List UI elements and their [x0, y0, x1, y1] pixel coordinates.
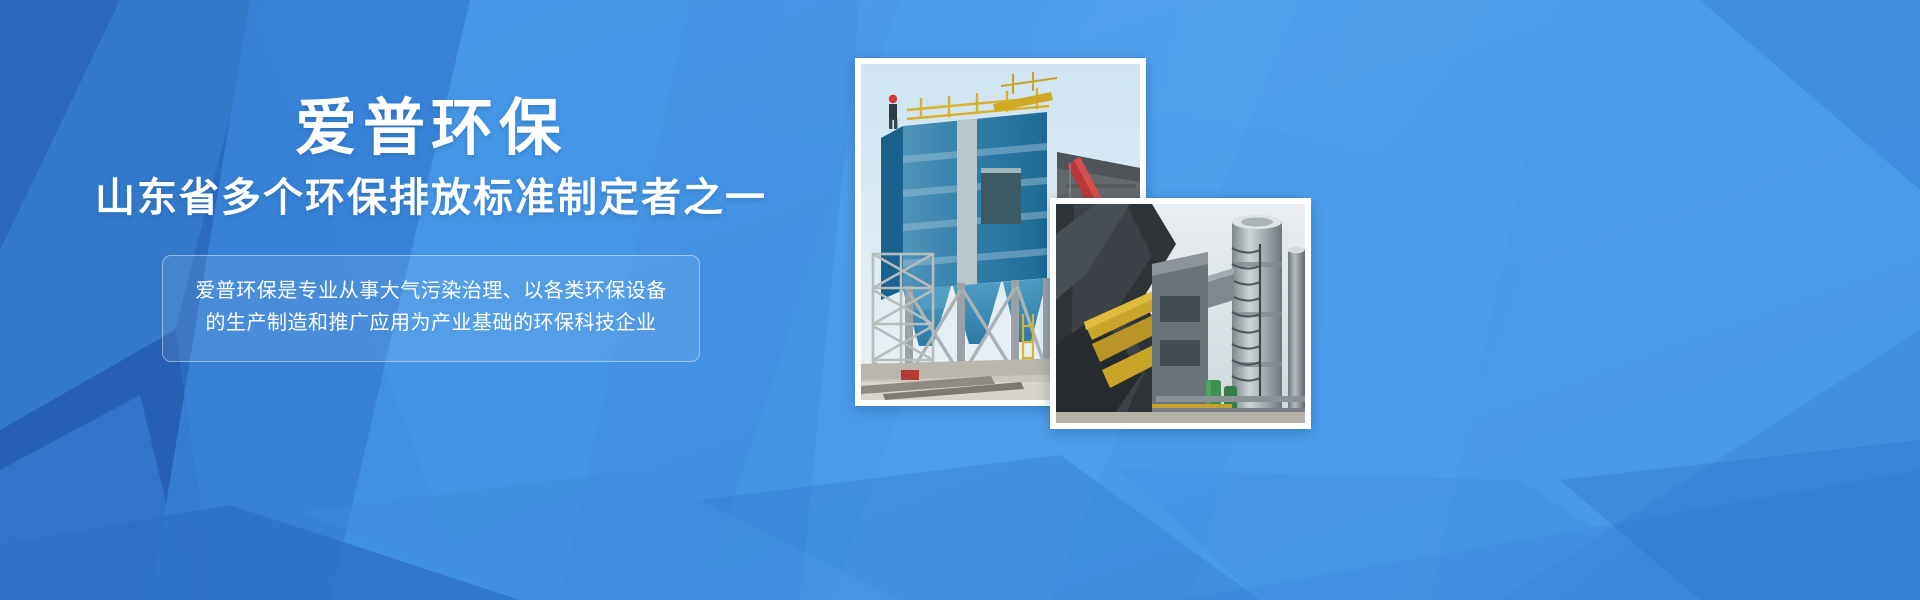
- description-line-2: 的生产制造和推广应用为产业基础的环保科技企业: [181, 307, 681, 339]
- photo-canvas: [1056, 204, 1305, 423]
- hero-text-block: 爱普环保 山东省多个环保排放标准制定者之一 爱普环保是专业从事大气污染治理、以各…: [0, 96, 862, 362]
- description-box: 爱普环保是专业从事大气污染治理、以各类环保设备 的生产制造和推广应用为产业基础的…: [162, 255, 700, 362]
- page-title: 爱普环保: [0, 96, 862, 161]
- hero-banner: 爱普环保 山东省多个环保排放标准制定者之一 爱普环保是专业从事大气污染治理、以各…: [0, 0, 1920, 600]
- description-line-1: 爱普环保是专业从事大气污染治理、以各类环保设备: [181, 275, 681, 307]
- desulfurization-tower-photo: [1050, 198, 1311, 429]
- hero-subtitle: 山东省多个环保排放标准制定者之一: [0, 175, 862, 221]
